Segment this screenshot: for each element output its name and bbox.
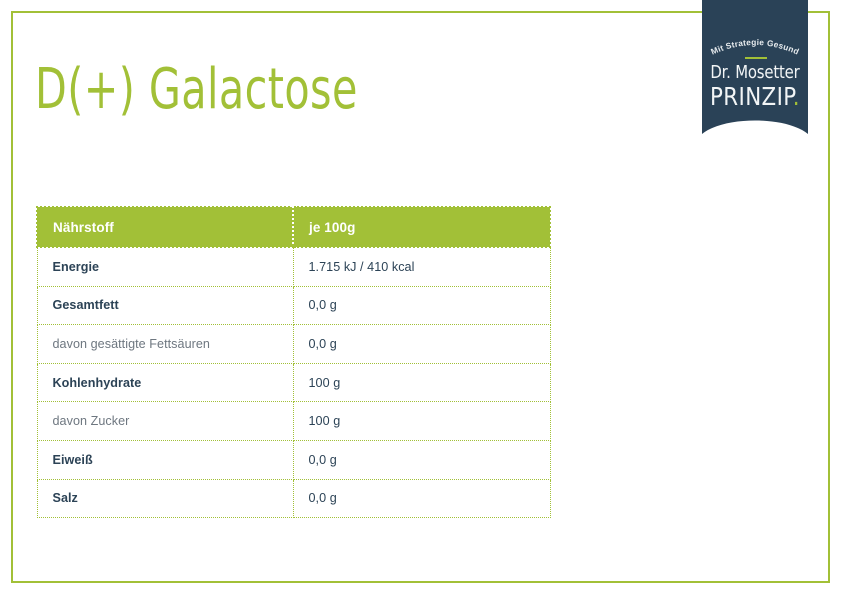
cell-nutrient-value: 1.715 kJ / 410 kcal: [293, 247, 550, 286]
table-row: Kohlenhydrate100 g: [37, 363, 550, 402]
column-header-nutrient: Nährstoff: [37, 207, 293, 247]
logo-tagline-text: Mit Strategie Gesund: [709, 37, 800, 57]
cell-nutrient-name: davon Zucker: [37, 402, 293, 441]
logo-name-text: Dr. Mosetter: [706, 62, 804, 83]
logo-wordmark: PRINZIP.: [705, 83, 806, 111]
table-row: Gesamtfett0,0 g: [37, 286, 550, 325]
cell-nutrient-name: Energie: [37, 247, 293, 286]
table-row: Salz0,0 g: [37, 479, 550, 518]
cell-nutrient-value: 0,0 g: [293, 286, 550, 325]
brand-logo: Mit Strategie Gesund Dr. Mosetter PRINZI…: [702, 0, 808, 134]
logo-wordmark-text: PRINZIP: [710, 82, 793, 111]
page-title: D(+) Galactose: [35, 57, 358, 123]
column-header-per-100g: je 100g: [293, 207, 550, 247]
cell-nutrient-name: Salz: [37, 479, 293, 518]
cell-nutrient-name: Kohlenhydrate: [37, 363, 293, 402]
cell-nutrient-value: 100 g: [293, 402, 550, 441]
cell-nutrient-value: 0,0 g: [293, 325, 550, 364]
cell-nutrient-value: 0,0 g: [293, 479, 550, 518]
table-row: davon Zucker100 g: [37, 402, 550, 441]
nutrition-table-head: Nährstoff je 100g: [37, 207, 550, 247]
cell-nutrient-value: 100 g: [293, 363, 550, 402]
table-row: Eiweiß0,0 g: [37, 440, 550, 479]
table-row: Energie1.715 kJ / 410 kcal: [37, 247, 550, 286]
cell-nutrient-name: davon gesättigte Fettsäuren: [37, 325, 293, 364]
logo-wordmark-dot: .: [793, 82, 800, 111]
cell-nutrient-name: Gesamtfett: [37, 286, 293, 325]
table-row: davon gesättigte Fettsäuren0,0 g: [37, 325, 550, 364]
table-header-row: Nährstoff je 100g: [37, 207, 550, 247]
logo-tagline-arc: Mit Strategie Gesund: [702, 32, 808, 58]
cell-nutrient-name: Eiweiß: [37, 440, 293, 479]
cell-nutrient-value: 0,0 g: [293, 440, 550, 479]
logo-divider: [745, 57, 767, 59]
nutrition-table: Nährstoff je 100g Energie1.715 kJ / 410 …: [36, 206, 551, 518]
svg-text:Mit Strategie Gesund: Mit Strategie Gesund: [709, 37, 800, 57]
nutrition-table-body: Energie1.715 kJ / 410 kcalGesamtfett0,0 …: [37, 247, 550, 518]
